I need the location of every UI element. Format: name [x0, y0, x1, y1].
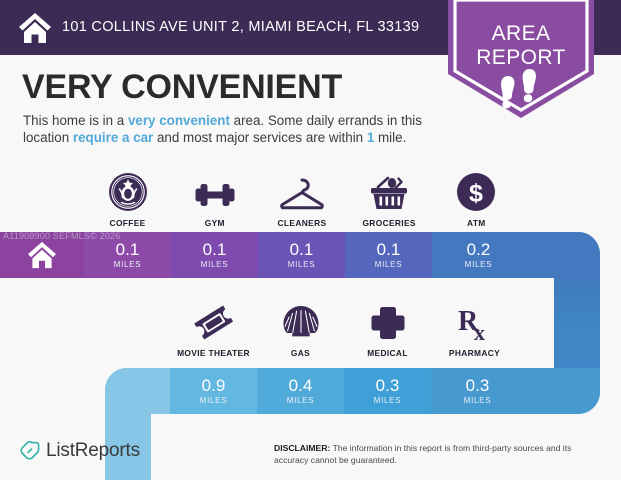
- distance-unit: MILES: [464, 396, 492, 405]
- summary-text-1: This home is in a: [23, 113, 128, 128]
- distance-value: 0.1: [116, 241, 140, 258]
- summary-highlight-2: require a car: [73, 130, 153, 145]
- clothes-hanger-icon: [278, 170, 326, 212]
- distance-value: 0.2: [467, 241, 491, 258]
- summary-paragraph: This home is in a very convenient area. …: [23, 112, 448, 146]
- amenity-label: GROCERIES: [362, 218, 415, 228]
- summary-text-4: mile.: [374, 130, 406, 145]
- distance-unit: MILES: [200, 396, 228, 405]
- movie-ticket-icon: [193, 300, 235, 342]
- amenity-pharmacy: R x PHARMACY: [431, 300, 518, 358]
- starbucks-coffee-icon: [108, 170, 148, 212]
- distance-segment: 0.1 MILES: [258, 232, 345, 278]
- amenity-coffee: COFFEE: [84, 170, 171, 228]
- svg-text:$: $: [469, 180, 483, 208]
- page-title: VERY CONVENIENT: [22, 68, 342, 107]
- summary-highlight-1: very convenient: [128, 113, 230, 128]
- distance-value: 0.3: [466, 377, 490, 394]
- distance-bar-row-2: 0.9 MILES 0.4 MILES 0.3 MILES 0.3 MILES: [105, 368, 600, 414]
- amenity-cleaners: CLEANERS: [258, 170, 345, 228]
- home-icon: [27, 241, 57, 269]
- amenity-label: PHARMACY: [449, 348, 500, 358]
- listreports-brand: ListReports: [20, 440, 140, 462]
- distance-segment: 0.1 MILES: [345, 232, 432, 278]
- distance-unit: MILES: [465, 260, 493, 269]
- distance-value: 0.3: [376, 377, 400, 394]
- badge-line-1: AREA: [492, 22, 551, 45]
- area-report-badge: AREA REPORT: [448, 0, 594, 118]
- distance-value: 0.4: [289, 377, 313, 394]
- amenity-icon-row-1: COFFEE GYM CLEANERS: [84, 170, 520, 228]
- distance-segment: 0.3 MILES: [431, 368, 600, 414]
- amenity-medical: MEDICAL: [344, 300, 431, 358]
- distance-segment: 0.4 MILES: [257, 368, 344, 414]
- distance-unit: MILES: [288, 260, 316, 269]
- disclaimer-label: DISCLAIMER:: [274, 443, 330, 453]
- shell-gas-icon: [280, 300, 322, 342]
- area-report-page: 101 COLLINS AVE UNIT 2, MIAMI BEACH, FL …: [0, 0, 621, 480]
- svg-text:x: x: [474, 320, 485, 342]
- amenity-label: GAS: [291, 348, 310, 358]
- distance-unit: MILES: [374, 396, 402, 405]
- amenity-gym: GYM: [171, 170, 258, 228]
- distance-segment: 0.9 MILES: [170, 368, 257, 414]
- bar-spacer: [105, 368, 170, 414]
- amenity-label: MEDICAL: [367, 348, 408, 358]
- distance-unit: MILES: [114, 260, 142, 269]
- distance-unit: MILES: [201, 260, 229, 269]
- property-address: 101 COLLINS AVE UNIT 2, MIAMI BEACH, FL …: [62, 19, 419, 35]
- distance-segment: 0.2 MILES: [432, 232, 600, 278]
- amenity-label: COFFEE: [110, 218, 146, 228]
- distance-value: 0.1: [377, 241, 401, 258]
- medical-cross-icon: [369, 300, 407, 342]
- amenity-gas: GAS: [257, 300, 344, 358]
- amenity-atm: $ ATM: [433, 170, 520, 228]
- rx-pharmacy-icon: R x: [454, 300, 496, 342]
- distance-unit: MILES: [287, 396, 315, 405]
- mls-watermark: A11908900 SEFMLS© 2026: [3, 231, 120, 241]
- dollar-circle-icon: $: [456, 170, 496, 212]
- distance-value: 0.1: [290, 241, 314, 258]
- summary-text-3: and most major services are within: [153, 130, 367, 145]
- listreports-wordmark: ListReports: [46, 440, 140, 462]
- listreports-logo-icon: [20, 441, 40, 461]
- amenity-groceries: GROCERIES: [346, 170, 433, 228]
- dumbbell-icon: [192, 170, 238, 212]
- amenity-label: GYM: [205, 218, 225, 228]
- distance-segment: 0.1 MILES: [171, 232, 258, 278]
- amenity-label: CLEANERS: [278, 218, 327, 228]
- grocery-basket-icon: [368, 170, 410, 212]
- amenity-label: ATM: [467, 218, 486, 228]
- distance-value: 0.1: [203, 241, 227, 258]
- distance-segment: 0.3 MILES: [344, 368, 431, 414]
- distance-value: 0.9: [202, 377, 226, 394]
- amenity-icon-row-2: MOVIE THEATER GAS: [170, 300, 518, 358]
- badge-line-2: REPORT: [476, 46, 566, 69]
- disclaimer: DISCLAIMER: The information in this repo…: [274, 443, 594, 466]
- amenity-label: MOVIE THEATER: [177, 348, 250, 358]
- amenity-movie-theater: MOVIE THEATER: [170, 300, 257, 358]
- distance-unit: MILES: [375, 260, 403, 269]
- home-icon: [18, 12, 52, 44]
